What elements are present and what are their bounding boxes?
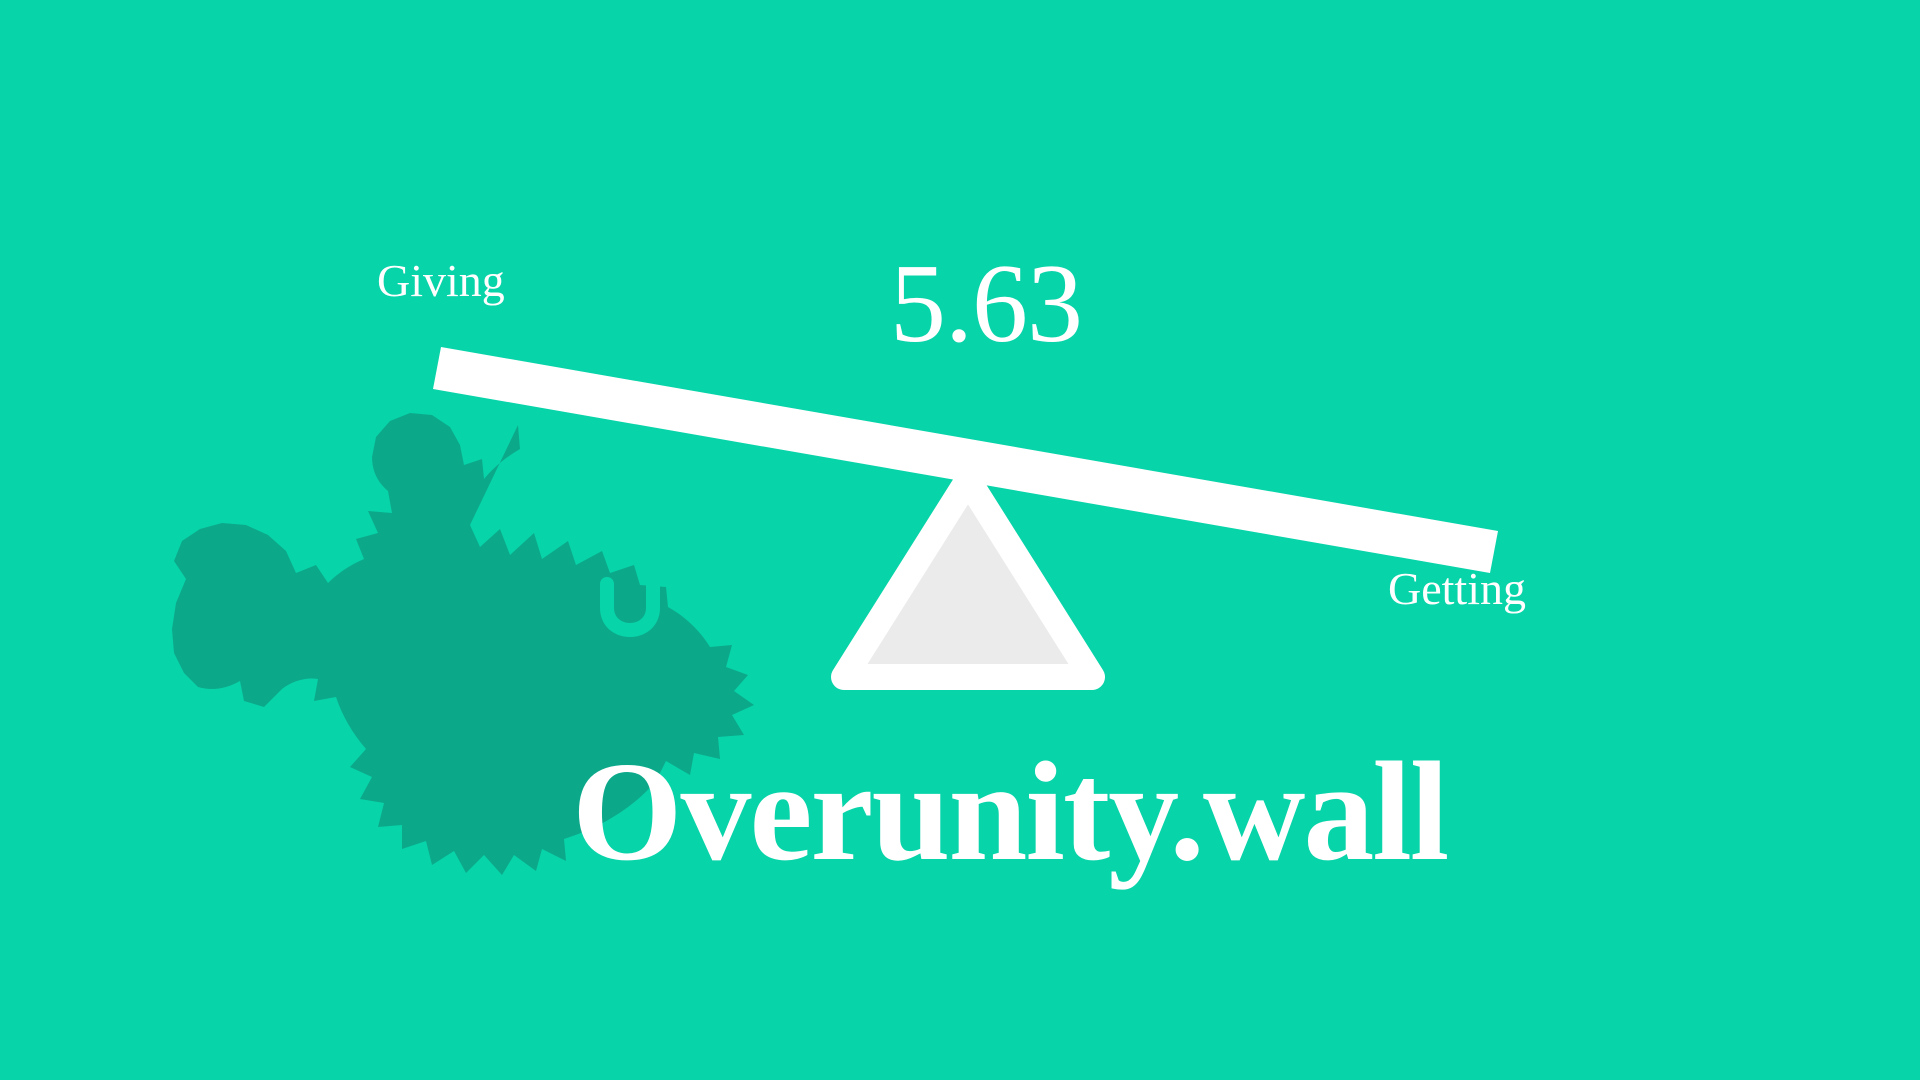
- triangle-fulcrum-icon: [844, 480, 1092, 677]
- scale-illustration: [0, 0, 1920, 1080]
- giving-side-label: Giving: [377, 258, 505, 304]
- getting-side-label: Getting: [1388, 566, 1526, 612]
- ratio-value: 5.63: [890, 248, 1082, 360]
- scale-infographic-canvas: Giving 5.63 Getting Overunity.wall: [0, 0, 1920, 1080]
- brand-wordmark: Overunity.wall: [572, 740, 1447, 882]
